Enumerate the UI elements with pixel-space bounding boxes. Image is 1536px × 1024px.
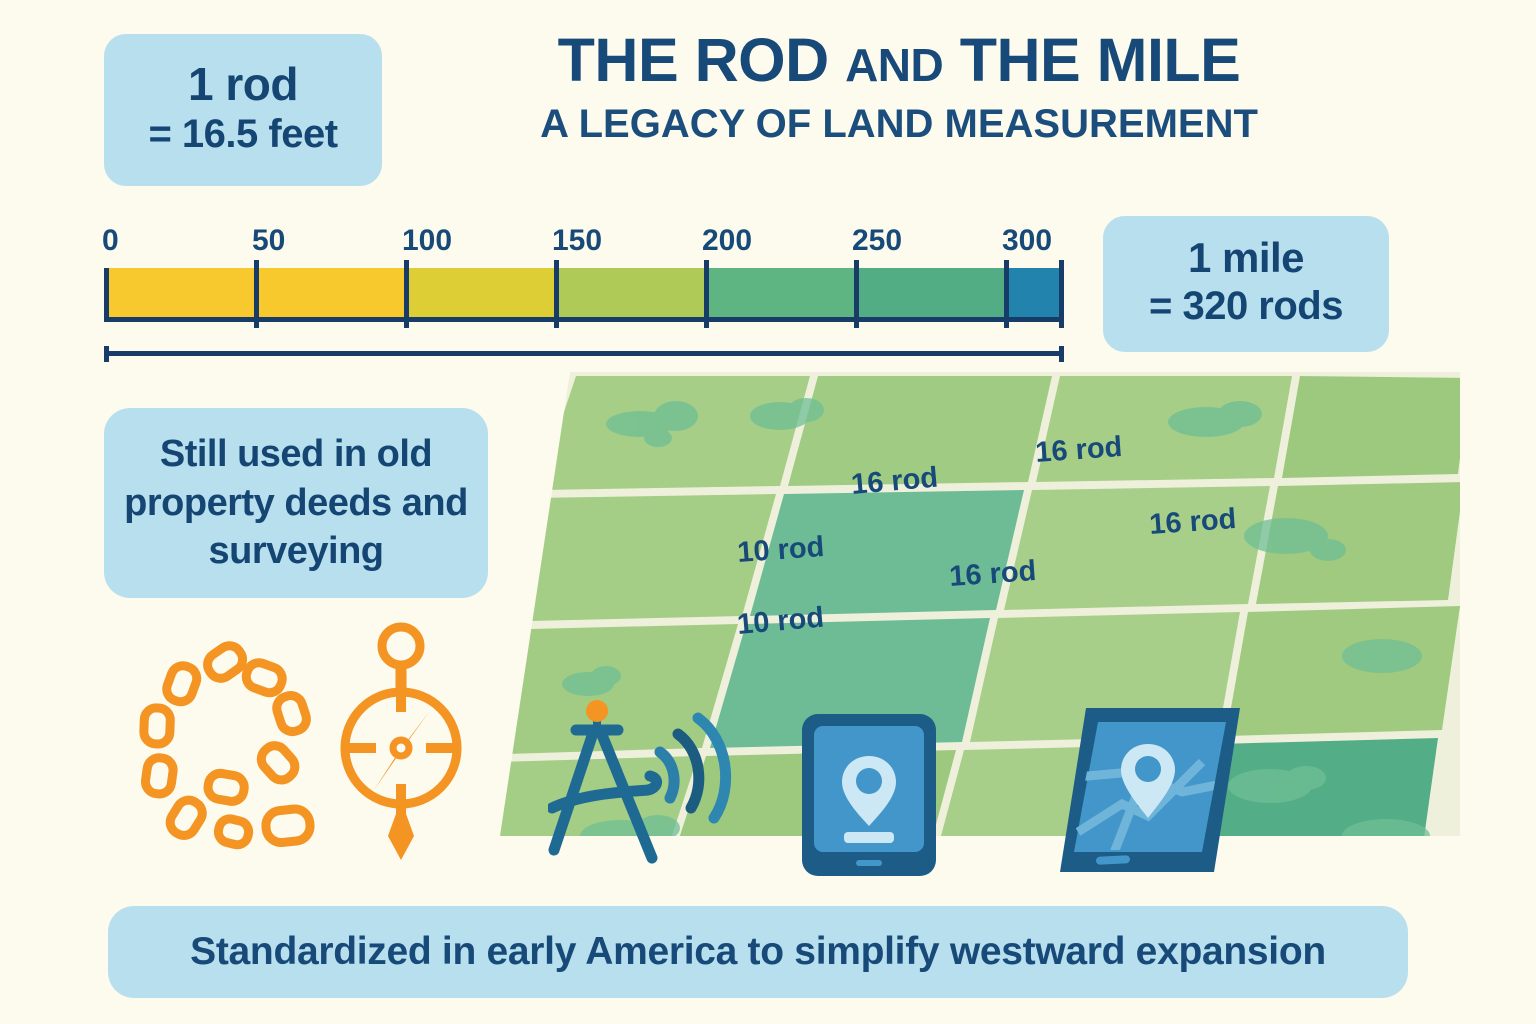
- ruler-tick-label-100: 100: [402, 224, 452, 258]
- compass-icon: [336, 620, 466, 860]
- card-still-used-in-deeds: Still used in old property deeds and sur…: [104, 408, 488, 598]
- dimension-cap-right: [1059, 346, 1064, 362]
- parcel-label-2: 16 rod: [1034, 431, 1123, 469]
- ruler-tick-label-300: 300: [1002, 224, 1052, 258]
- ruler-tick-label-50: 50: [252, 224, 285, 258]
- ruler-segment-50-100: [258, 268, 407, 317]
- ruler-segment-0-50: [109, 268, 258, 317]
- bottom-banner: Standardized in early America to simplif…: [108, 906, 1408, 998]
- ruler-tick-label-200: 200: [702, 224, 752, 258]
- badge-one-mile-line1: 1 mile: [1188, 236, 1304, 280]
- tablet-gps-pin-icon: [800, 712, 938, 878]
- ruler-segment-250-300: [855, 268, 1004, 317]
- title-part-2: THE MILE: [943, 26, 1240, 94]
- parcel-r3c4-16rod: [1226, 606, 1460, 736]
- parcel-label-5: 16 rod: [1148, 503, 1237, 541]
- bottom-banner-text: Standardized in early America to simplif…: [190, 930, 1326, 974]
- ruler-dimension-line: [104, 346, 1064, 360]
- ruler-tick-label-150: 150: [552, 224, 602, 258]
- badge-one-rod: 1 rod = 16.5 feet: [104, 34, 382, 186]
- ruler-tickmark-end: [1059, 260, 1064, 328]
- parcel-label-4: 16 rod: [948, 555, 1037, 593]
- badge-one-mile-line2: = 320 rods: [1149, 280, 1343, 332]
- card-deeds-text: Still used in old property deeds and sur…: [118, 430, 474, 576]
- badge-one-rod-line2: = 16.5 feet: [148, 108, 337, 160]
- title-block: THE ROD AND THE MILE A LEGACY OF LAND ME…: [404, 28, 1394, 154]
- ruler-tickmark-150: [554, 260, 559, 328]
- ruler-segment-200-250: [706, 268, 855, 317]
- parcel-label-0: 10 rod: [736, 531, 825, 569]
- ruler-segment-300-320: [1004, 268, 1064, 317]
- parcel-r1c4: [1282, 376, 1470, 478]
- ruler-tickmark-250: [854, 260, 859, 328]
- badge-one-rod-line1: 1 rod: [188, 60, 298, 108]
- ruler-tickmark-100: [404, 260, 409, 328]
- ruler-tickmark-50: [254, 260, 259, 328]
- infographic-canvas: THE ROD AND THE MILE A LEGACY OF LAND ME…: [0, 0, 1536, 1024]
- title-part-1: THE ROD: [558, 26, 845, 94]
- surveying-divider-signal-icon: [548, 700, 738, 865]
- ruler-tickmark-200: [704, 260, 709, 328]
- surveyors-chain-icon: [124, 628, 324, 858]
- page-title: THE ROD AND THE MILE: [404, 28, 1394, 94]
- ruler-tickmark-300: [1004, 260, 1009, 328]
- page-subtitle: A LEGACY OF LAND MEASUREMENT: [404, 94, 1394, 154]
- ruler-tick-label-0: 0: [102, 224, 119, 258]
- ruler-tick-label-250: 250: [852, 224, 902, 258]
- parcel-r2c1: [490, 494, 776, 622]
- title-and: AND: [845, 39, 943, 91]
- badge-one-mile: 1 mile = 320 rods: [1103, 216, 1389, 352]
- tilted-tablet-map-pin-icon: [1052, 700, 1252, 880]
- dimension-line-body: [104, 351, 1064, 356]
- rod-scale-ruler: 050100150200250300: [104, 224, 1064, 360]
- ruler-segments: [104, 268, 1064, 322]
- ruler-segment-100-150: [407, 268, 556, 317]
- ruler-tick-labels: 050100150200250300: [104, 224, 1064, 262]
- ruler-segment-150-200: [557, 268, 706, 317]
- parcel-r1c1: [538, 376, 810, 490]
